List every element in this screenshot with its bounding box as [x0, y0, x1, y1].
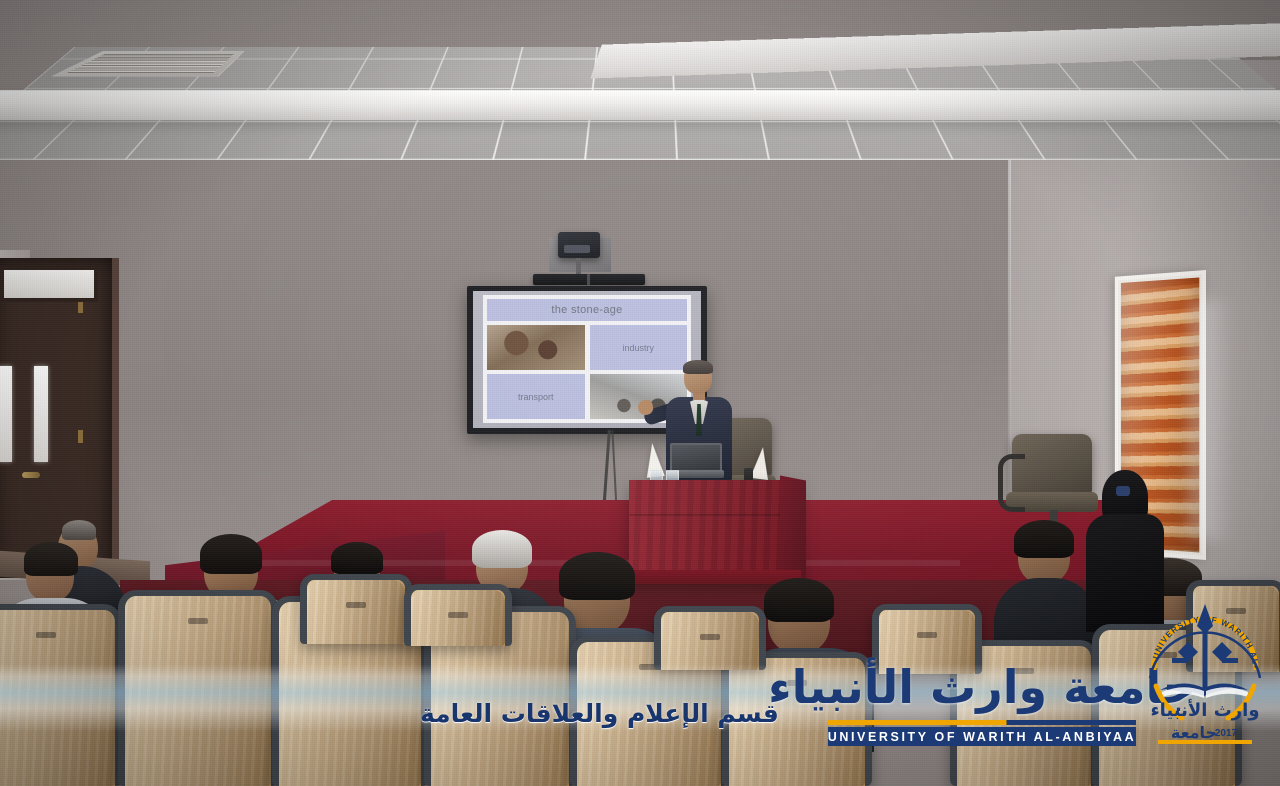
wordmark-rule	[828, 720, 1136, 725]
slide-title: the stone-age	[487, 299, 687, 321]
auditorium-seat[interactable]	[118, 590, 278, 786]
audience-hair	[62, 520, 96, 540]
auditorium-seat[interactable]	[404, 584, 512, 646]
projector-icon	[558, 232, 600, 258]
door-glass-panel	[0, 366, 12, 462]
chair-armrest	[998, 454, 1025, 512]
university-crest: UNIVERSITY OF WARITH AL-ANBIYAA وارث الأ…	[1142, 586, 1268, 746]
door-transom-window	[0, 266, 98, 302]
audience-hair	[1014, 520, 1074, 558]
audience-hair	[559, 552, 635, 600]
transport-label: transport	[487, 374, 585, 419]
door-handle-icon[interactable]	[22, 472, 40, 478]
university-name-english: UNIVERSITY OF WARITH AL-ANBIYAA	[828, 727, 1136, 746]
laptop-icon	[670, 443, 722, 472]
crest-arabic-bottom: جامعة	[1171, 723, 1217, 742]
door-glass-panel	[34, 366, 48, 462]
podium-table-side	[780, 475, 806, 578]
crest-year: 2017	[1215, 728, 1238, 739]
department-name-arabic: قسم الإعلام والعلاقات العامة	[420, 692, 825, 734]
presenter-hair	[683, 360, 713, 374]
door-hinge-icon	[78, 430, 83, 443]
audience-hair	[764, 578, 834, 622]
university-wordmark: جامعة وارث الأنبياء UNIVERSITY OF WARITH…	[822, 650, 1142, 760]
slide-row-top: industry	[487, 325, 687, 370]
audience-hair	[331, 542, 383, 574]
table-napkin	[750, 446, 772, 480]
lecture-hall-photo: the stone-age industry transport	[0, 0, 1280, 786]
ceiling-bulkhead	[0, 90, 1280, 120]
cave-art-image	[487, 325, 585, 370]
auditorium-seat[interactable]	[654, 606, 766, 670]
soundbar-icon	[533, 274, 645, 285]
podium-table-skirt	[629, 570, 801, 584]
podium-table	[629, 480, 801, 580]
audience-hair	[24, 542, 78, 576]
university-name-arabic: جامعة وارث الأنبياء	[822, 654, 1142, 720]
auditorium-seat[interactable]	[300, 574, 412, 644]
window-light-spill	[1190, 300, 1234, 540]
auditorium-seat[interactable]	[0, 604, 122, 786]
attendee-accent	[1116, 486, 1130, 496]
audience-hair-gray	[472, 530, 532, 568]
audience-hair	[200, 534, 262, 574]
crest-arabic-top: وارث الأنبياء	[1150, 699, 1259, 721]
entrance-door[interactable]	[0, 258, 119, 578]
